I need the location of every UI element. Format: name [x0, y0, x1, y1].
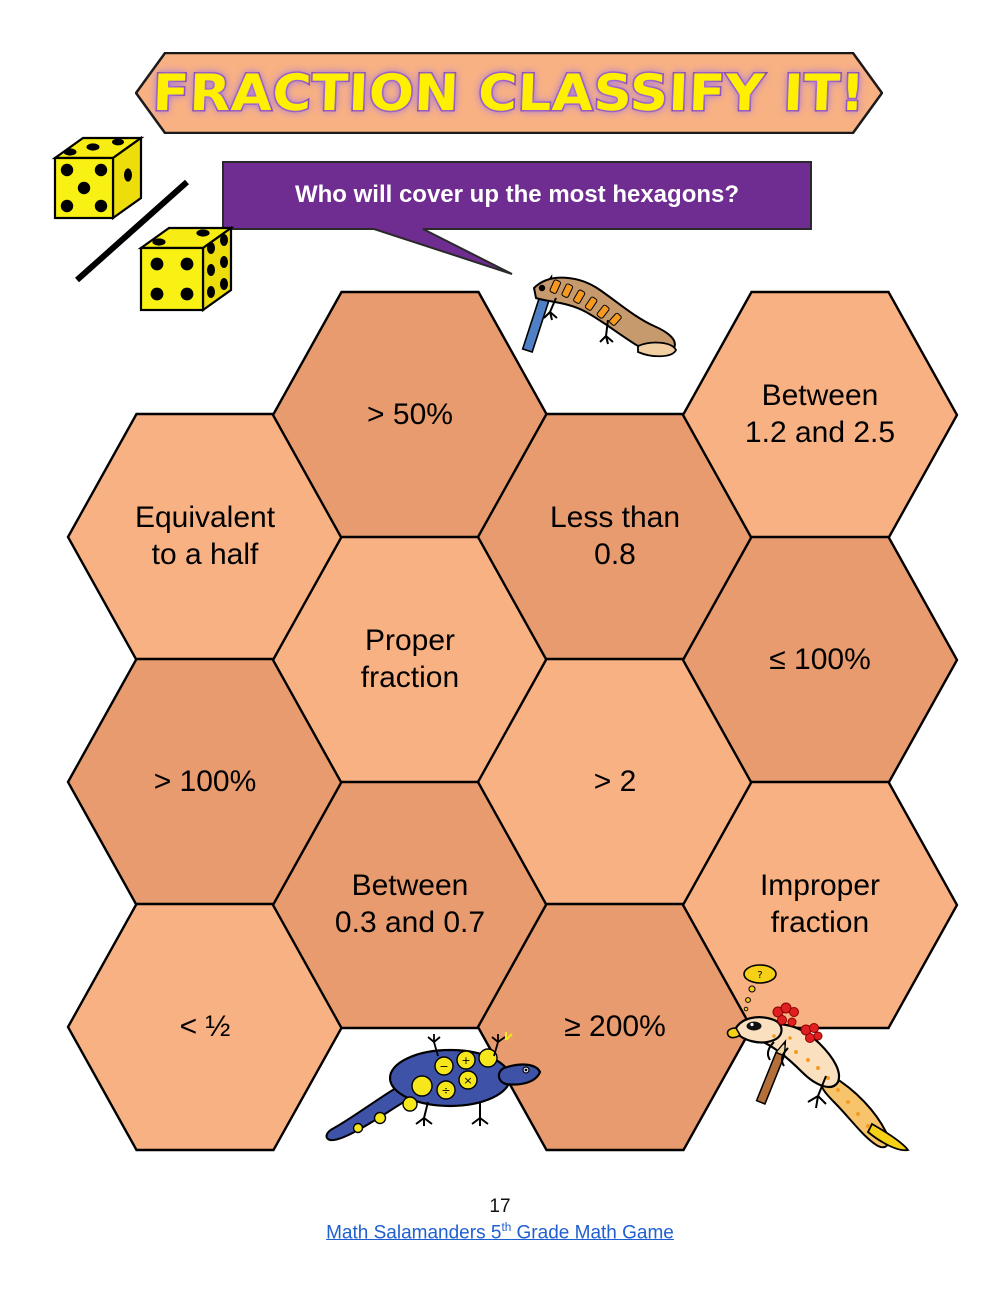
blue-salamander-with-math-spots-icon: − + × ÷: [318, 1022, 548, 1152]
page-number: 17: [0, 1195, 1000, 1219]
footer-link-text-before: Math Salamanders 5: [326, 1222, 501, 1243]
footer-link[interactable]: Math Salamanders 5th Grade Math Game: [326, 1221, 674, 1244]
brown-pencil-icon: [757, 1039, 790, 1104]
orange-axolotl-with-pencil-icon: ?: [722, 956, 932, 1156]
thought-bubble-icon: ?: [744, 965, 776, 1011]
svg-text:−: −: [439, 1060, 448, 1073]
footer: 17 Math Salamanders 5th Grade Math Game: [0, 1195, 1000, 1244]
worksheet-page: FRACTION CLASSIFY IT! Who will cover up …: [0, 0, 1000, 1294]
svg-text:×: ×: [463, 1074, 472, 1087]
svg-text:÷: ÷: [441, 1084, 450, 1097]
svg-text:+: +: [461, 1054, 470, 1067]
footer-link-ordinal-suffix: th: [501, 1221, 511, 1234]
footer-link-text-after: Grade Math Game: [511, 1222, 674, 1243]
brown-salamander-with-pencil-icon: [512, 262, 682, 382]
svg-text:?: ?: [757, 970, 762, 981]
